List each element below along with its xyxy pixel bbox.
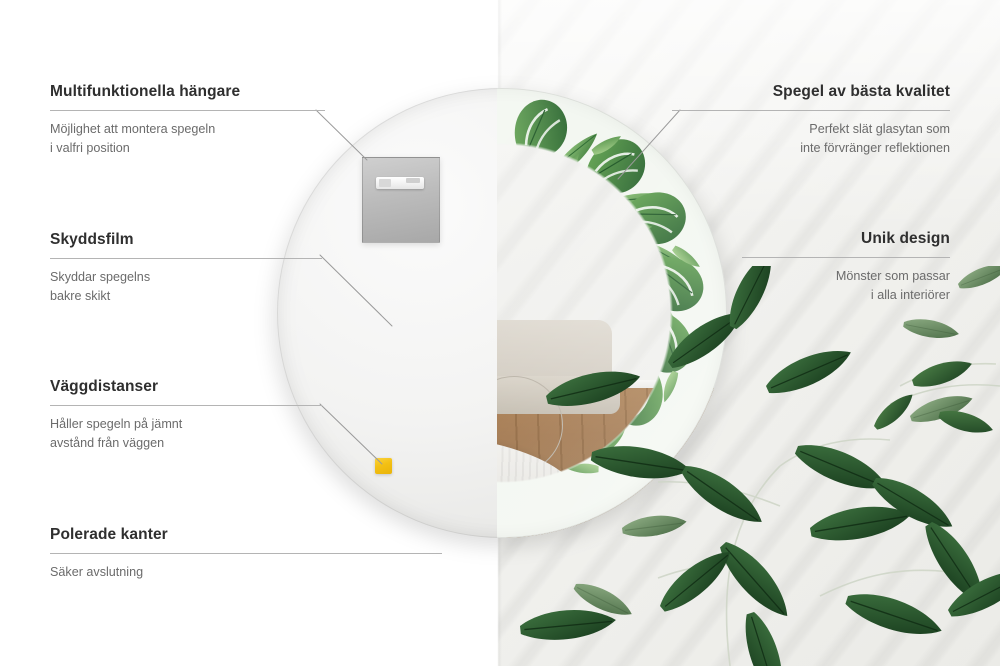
callout-edges-title: Polerade kanter	[50, 525, 442, 545]
callout-edges-rule	[50, 553, 442, 554]
callout-hangers-title: Multifunktionella hängare	[50, 82, 442, 102]
callout-film: Skyddsfilm Skyddar spegelns bakre skikt	[50, 230, 442, 306]
callout-quality-rule	[672, 110, 950, 111]
callout-film-title: Skyddsfilm	[50, 230, 442, 250]
callout-design: Unik design Mönster som passar i alla in…	[558, 229, 950, 305]
callout-spacers-desc-1: Håller spegeln på jämnt	[50, 415, 442, 434]
callout-spacers-title: Väggdistanser	[50, 377, 442, 397]
infographic-canvas: Multifunktionella hängare Möjlighet att …	[0, 0, 1000, 666]
callout-quality-desc-2: inte förvränger reflektionen	[558, 139, 950, 158]
callout-quality-title: Spegel av bästa kvalitet	[558, 82, 950, 102]
callout-edges-desc-1: Säker avslutning	[50, 563, 442, 582]
callout-quality: Spegel av bästa kvalitet Perfekt slät gl…	[558, 82, 950, 158]
callout-film-desc-1: Skyddar spegelns	[50, 268, 442, 287]
callout-edges: Polerade kanter Säker avslutning	[50, 525, 442, 582]
callout-hangers-desc-2: i valfri position	[50, 139, 442, 158]
callout-film-desc-2: bakre skikt	[50, 287, 442, 306]
callout-spacers-rule	[50, 405, 322, 406]
callout-hangers: Multifunktionella hängare Möjlighet att …	[50, 82, 442, 158]
hanger-bracket-icon	[376, 177, 424, 189]
wall-spacer-chip	[375, 458, 392, 474]
callout-hangers-rule	[50, 110, 325, 111]
callout-design-desc-1: Mönster som passar	[558, 267, 950, 286]
callout-design-title: Unik design	[558, 229, 950, 249]
callout-design-desc-2: i alla interiörer	[558, 286, 950, 305]
callout-hangers-desc-1: Möjlighet att montera spegeln	[50, 120, 442, 139]
callout-quality-desc-1: Perfekt slät glasytan som	[558, 120, 950, 139]
callout-spacers: Väggdistanser Håller spegeln på jämnt av…	[50, 377, 442, 453]
callout-spacers-desc-2: avstånd från väggen	[50, 434, 442, 453]
callout-film-rule	[50, 258, 322, 259]
callout-design-rule	[742, 257, 950, 258]
